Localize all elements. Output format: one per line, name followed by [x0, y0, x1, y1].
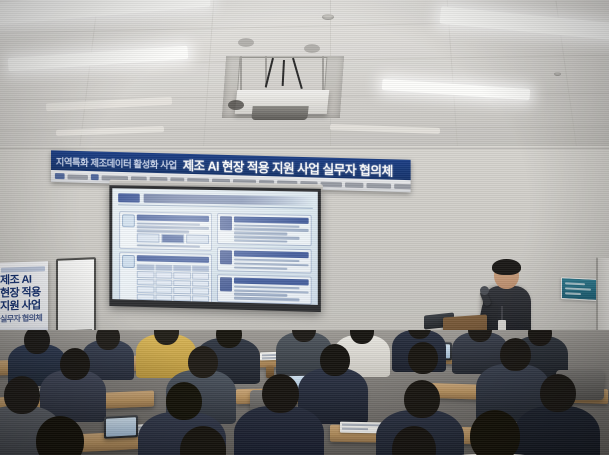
- audience-area: RO: [0, 330, 609, 455]
- sponsor-logo: [68, 174, 88, 180]
- table-cell: [192, 295, 209, 302]
- date-chip: [55, 173, 65, 179]
- conference-room-photo: 지역특화 제조데이터 활성화 사업 제조 AI 현장 적용 지원 사업 실무자 …: [0, 0, 609, 455]
- ceiling: [0, 0, 609, 152]
- step-number-3: [220, 277, 232, 291]
- ceiling-vent-2: [304, 44, 320, 53]
- left-section-1-content: [137, 214, 209, 247]
- whiteboard: [56, 257, 96, 335]
- ceiling-vent-1: [238, 38, 254, 47]
- table-header-cell: [192, 265, 209, 272]
- table-cell: [155, 294, 172, 301]
- left-section-2: [119, 252, 212, 305]
- section-icon-2: [122, 255, 135, 268]
- sponsor-logo: [367, 182, 392, 188]
- mini-cell: [137, 234, 160, 243]
- table-header-cell: [137, 264, 154, 271]
- sprinkler-head-2: [554, 72, 561, 76]
- left-section-2-content: [137, 255, 209, 302]
- mini-cell-highlighted: [161, 234, 184, 243]
- rollup-text: 제조 AI 현장 적용 지원 사업 실무자 협의체: [0, 273, 46, 325]
- projection-screen: [112, 188, 318, 305]
- table-cell: [155, 279, 172, 286]
- slide-right-column: [217, 210, 312, 300]
- right-section-1: [217, 213, 312, 247]
- table-header-cell: [155, 264, 172, 271]
- text-line: [234, 266, 288, 270]
- rollup-line-4: 실무자 협의체: [0, 312, 46, 325]
- right-column-header: [217, 210, 312, 212]
- sponsor-logo: [395, 183, 411, 189]
- microphone-head: [480, 286, 489, 295]
- table-cell: [173, 280, 190, 287]
- text-line: [137, 244, 200, 248]
- text-line: [234, 297, 300, 301]
- slide-section-tag: [118, 193, 140, 202]
- table-cell: [173, 294, 190, 301]
- rollup-top-caption: [1, 266, 45, 273]
- left-column-header: [119, 208, 212, 210]
- left-data-table: [137, 264, 209, 302]
- projector-recess-hole: [228, 100, 244, 110]
- table-cell: [173, 287, 190, 294]
- table-header-cell: [173, 265, 190, 272]
- right-heading-2: [234, 251, 309, 259]
- text-line: [234, 239, 288, 243]
- table-cell: [137, 293, 154, 300]
- slide-left-column: [119, 208, 212, 297]
- step-number-1: [220, 216, 232, 230]
- right-heading-3: [234, 278, 309, 286]
- left-heading-2: [137, 255, 209, 263]
- table-cell: [192, 280, 209, 287]
- section-icon-1: [122, 214, 135, 227]
- table-cell: [155, 286, 172, 293]
- right-section-1-content: [234, 216, 309, 243]
- step-number-2: [220, 251, 232, 265]
- laptop: [104, 415, 138, 439]
- table-cell: [192, 287, 209, 294]
- table-cell: [137, 271, 154, 278]
- right-section-3: [217, 274, 312, 304]
- table-row: [137, 293, 209, 301]
- text-line: [234, 285, 300, 289]
- date-chip-2: [90, 174, 98, 180]
- projector-lens: [251, 106, 308, 120]
- sprinkler-head-1: [322, 14, 334, 20]
- table-cell: [137, 279, 154, 286]
- right-section-2: [217, 248, 312, 274]
- left-heading-1: [137, 214, 209, 221]
- table-cell: [192, 272, 209, 279]
- banner-subtitle: 지역특화 제조데이터 활성화 사업: [56, 154, 177, 171]
- table-cell: [173, 272, 190, 279]
- mini-cell: [186, 235, 209, 244]
- table-cell: [155, 272, 172, 279]
- table-cell: [137, 286, 154, 293]
- right-section-2-content: [234, 251, 309, 271]
- right-heading-1: [234, 216, 309, 224]
- slide-body: [119, 208, 312, 299]
- presenter-hair: [492, 259, 521, 275]
- sponsor-logo: [321, 181, 343, 187]
- projection-screen-frame: [109, 185, 321, 312]
- text-line: [234, 232, 288, 236]
- slide-title-text: [144, 194, 314, 206]
- left-section-1: [119, 211, 212, 251]
- sponsor-logo: [345, 182, 363, 188]
- text-line: [137, 230, 189, 233]
- wall-mounted-sign: [561, 277, 597, 301]
- right-section-3-content: [234, 278, 309, 302]
- left-mini-table: [137, 234, 209, 245]
